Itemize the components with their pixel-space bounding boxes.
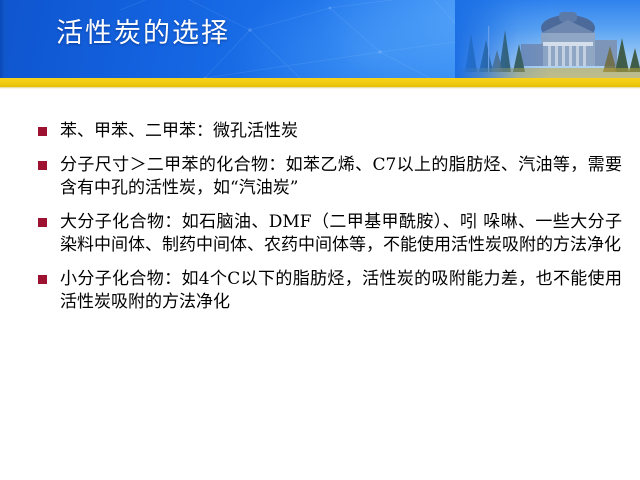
square-bullet-icon bbox=[38, 275, 47, 284]
list-item: 苯、甲苯、二甲苯：微孔活性炭 bbox=[38, 120, 622, 143]
photo-left-fade bbox=[455, 0, 640, 78]
list-item: 小分子化合物：如4个C以下的脂肪烃，活性炭的吸附能力差，也不能使用活性炭吸附的方… bbox=[38, 268, 622, 314]
list-item-label: 大分子化合物：如石脑油、DMF（二甲基甲酰胺）、吲 哚啉、一些大分子染料中间体、… bbox=[60, 211, 622, 257]
header-left-edge-band bbox=[0, 0, 9, 78]
bullet-list: 苯、甲苯、二甲苯：微孔活性炭 分子尺寸＞二甲苯的化合物：如苯乙烯、C7以上的脂肪… bbox=[0, 96, 640, 314]
list-item-label: 苯、甲苯、二甲苯：微孔活性炭 bbox=[60, 120, 622, 143]
list-item-label: 小分子化合物：如4个C以下的脂肪烃，活性炭的吸附能力差，也不能使用活性炭吸附的方… bbox=[60, 268, 622, 314]
gold-divider-rule bbox=[0, 78, 640, 87]
campus-auditorium-photo bbox=[455, 0, 640, 78]
list-item-label: 分子尺寸＞二甲苯的化合物：如苯乙烯、C7以上的脂肪烃、汽油等，需要含有中孔的活性… bbox=[60, 154, 622, 200]
slide-content-area: 苯、甲苯、二甲苯：微孔活性炭 分子尺寸＞二甲苯的化合物：如苯乙烯、C7以上的脂肪… bbox=[0, 96, 640, 480]
square-bullet-icon bbox=[38, 218, 47, 227]
list-item: 分子尺寸＞二甲苯的化合物：如苯乙烯、C7以上的脂肪烃、汽油等，需要含有中孔的活性… bbox=[38, 154, 622, 200]
slide: 活性炭的选择 苯、甲苯、二甲苯：微孔活性炭 分子尺寸＞二甲苯的化合物：如苯乙烯、… bbox=[0, 0, 640, 480]
square-bullet-icon bbox=[38, 127, 47, 136]
square-bullet-icon bbox=[38, 161, 47, 170]
list-item: 大分子化合物：如石脑油、DMF（二甲基甲酰胺）、吲 哚啉、一些大分子染料中间体、… bbox=[38, 211, 622, 257]
page-title: 活性炭的选择 bbox=[56, 17, 230, 51]
gold-divider-shadow bbox=[0, 87, 640, 89]
slide-header-banner: 活性炭的选择 bbox=[0, 0, 640, 78]
